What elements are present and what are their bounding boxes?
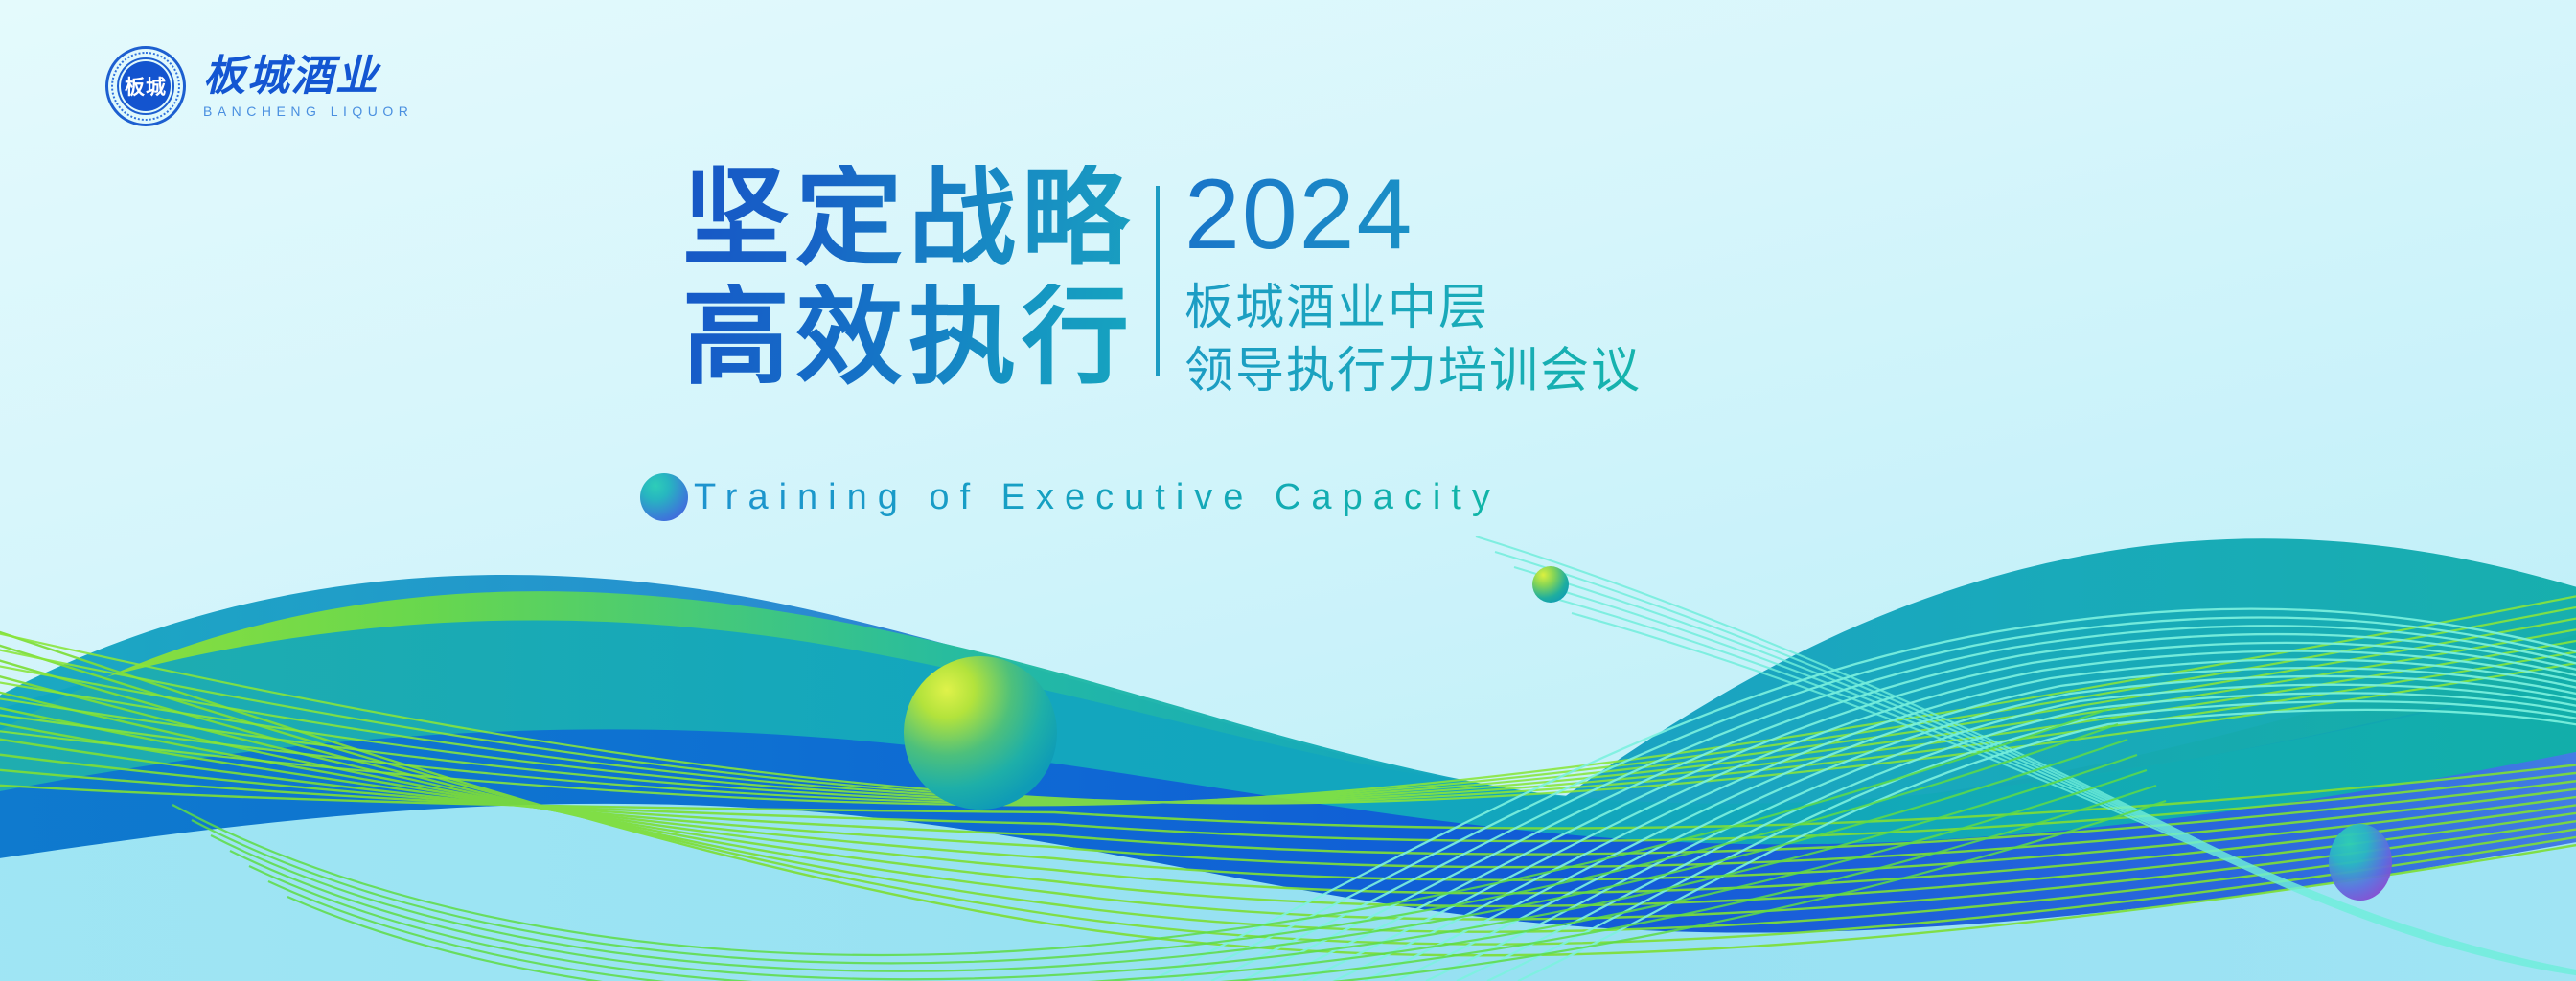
headline-line-2: 高效执行 <box>682 284 1135 393</box>
brand-wordmark: 板城酒业 BANCHENG LIQUOR <box>203 56 413 118</box>
brand-logo[interactable]: 板城 板城酒业 BANCHENG LIQUOR <box>105 46 413 126</box>
headline-group: 坚定战略 高效执行 2024 板城酒业中层 领导执行力培训会议 <box>682 165 1642 399</box>
bottom-green-bundle <box>172 709 2166 981</box>
headline-side: 2024 板城酒业中层 领导执行力培训会议 <box>1184 165 1642 399</box>
headline-line-1: 坚定战略 <box>682 165 1135 274</box>
wave-mid-teal-band <box>0 620 2576 981</box>
small-sphere-right <box>2329 824 2392 901</box>
wave-teal-purple <box>0 575 2576 981</box>
right-cyan-bundle <box>1150 609 2576 981</box>
subtitle-line-2: 领导执行力培训会议 <box>1184 343 1642 399</box>
tagline-text: Training of Executive Capacity <box>694 477 1501 518</box>
headline-divider <box>1156 186 1160 376</box>
event-year: 2024 <box>1184 165 1642 264</box>
wave-green-blue <box>0 591 2576 981</box>
crossing-green-bundle <box>0 582 2576 805</box>
wave-front-light-cyan <box>0 804 2576 981</box>
brand-name-en: BANCHENG LIQUOR <box>203 104 413 118</box>
tagline-sphere-icon <box>640 473 688 521</box>
left-green-bundle <box>0 613 2576 955</box>
wave-blue-band <box>0 729 2576 981</box>
right-cyan-crossing-bundle <box>1476 536 2576 981</box>
brand-name-cn: 板城酒业 <box>203 56 413 98</box>
wave-teal-hill-right <box>1303 538 2576 981</box>
subtitle-line-1: 板城酒业中层 <box>1184 280 1642 336</box>
headline-main: 坚定战略 高效执行 <box>682 165 1135 393</box>
event-banner: 板城 板城酒业 BANCHENG LIQUOR 坚定战略 高效执行 2024 板… <box>0 0 2576 981</box>
logo-emblem-icon: 板城 <box>105 46 186 126</box>
emblem-label: 板城 <box>121 61 171 111</box>
large-sphere <box>904 656 1057 810</box>
tagline-row: Training of Executive Capacity <box>640 473 1501 521</box>
small-sphere-mid <box>1532 566 1569 603</box>
